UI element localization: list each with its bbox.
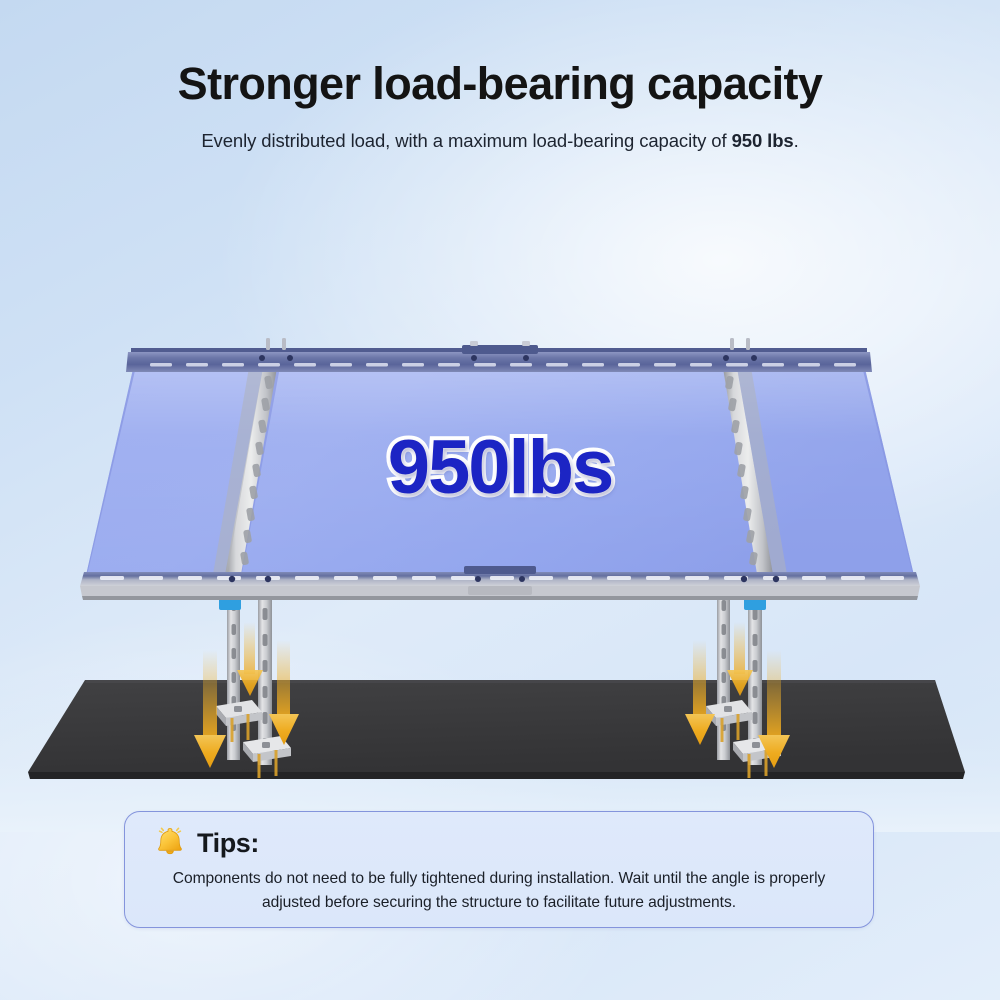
roof-mat [28, 680, 965, 779]
tips-box: Tips: Components do not need to be fully… [124, 811, 874, 928]
bottom-rail-perforations [100, 576, 904, 580]
bell-icon [150, 821, 190, 861]
infographic-page: Stronger load-bearing capacity Evenly di… [0, 0, 1000, 1000]
tips-header: Tips: [125, 812, 873, 861]
top-rail [126, 338, 872, 372]
tips-title: Tips: [197, 830, 259, 857]
solar-panel [84, 356, 916, 584]
tips-body: Components do not need to be fully tight… [125, 861, 873, 914]
